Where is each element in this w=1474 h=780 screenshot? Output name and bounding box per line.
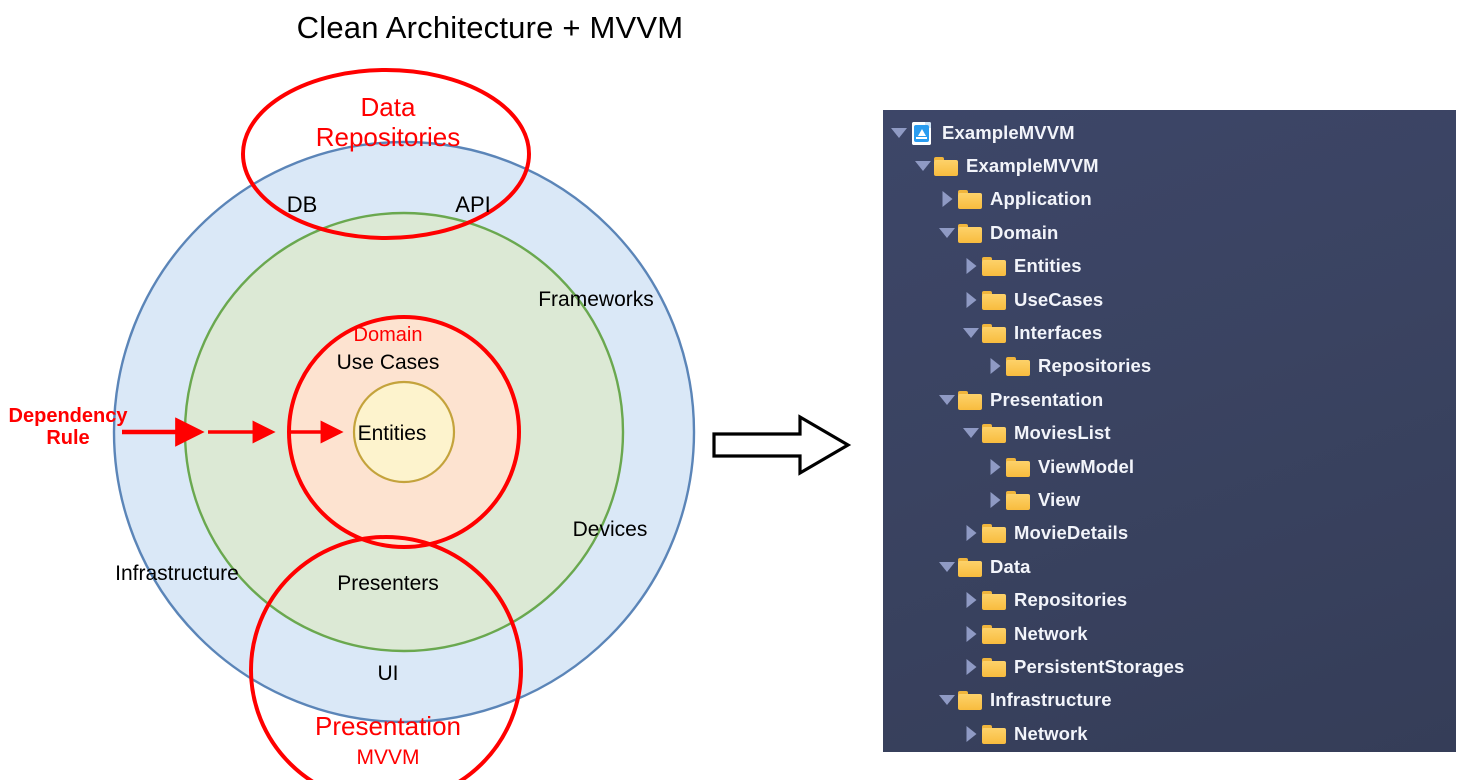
presentation-label-line1: Presentation (315, 711, 461, 741)
chevron-down-icon[interactable] (913, 156, 933, 176)
domain-label: Domain (354, 324, 423, 346)
chevron-right-icon[interactable] (961, 290, 981, 310)
tree-row-label: MovieDetails (1014, 522, 1128, 544)
chevron-down-icon[interactable] (889, 123, 909, 143)
folder-icon (981, 589, 1007, 611)
tree-row[interactable]: Repositories (883, 350, 1456, 383)
chevron-right-icon[interactable] (961, 523, 981, 543)
tree-row[interactable]: Interfaces (883, 316, 1456, 349)
tree-row-label: ExampleMVVM (966, 155, 1099, 177)
tree-row-label: Entities (1014, 255, 1082, 277)
frameworks-label: Frameworks (538, 288, 654, 311)
tree-row[interactable]: Presentation (883, 383, 1456, 416)
tree-row[interactable]: ExampleMVVM (883, 116, 1456, 149)
tree-row[interactable]: Data (883, 550, 1456, 583)
tree-row-label: Repositories (1038, 355, 1151, 377)
entities-label: Entities (358, 422, 427, 445)
chevron-right-icon[interactable] (985, 490, 1005, 510)
use-cases-label: Use Cases (337, 351, 440, 374)
folder-icon (981, 623, 1007, 645)
folder-icon (957, 222, 983, 244)
chevron-down-icon[interactable] (937, 390, 957, 410)
folder-icon (981, 656, 1007, 678)
tree-row-label: Network (1014, 623, 1088, 645)
api-label: API (455, 192, 490, 217)
xcode-file-navigator[interactable]: ExampleMVVMExampleMVVMApplicationDomainE… (883, 110, 1456, 752)
folder-icon (981, 322, 1007, 344)
tree-row-label: MoviesList (1014, 422, 1111, 444)
ui-label: UI (378, 662, 399, 685)
data-repositories-label-line1: Data (361, 92, 416, 122)
tree-row[interactable]: Domain (883, 216, 1456, 249)
tree-row-label: UseCases (1014, 289, 1103, 311)
folder-icon (933, 155, 959, 177)
folder-icon (981, 255, 1007, 277)
chevron-right-icon[interactable] (961, 657, 981, 677)
chevron-down-icon[interactable] (961, 423, 981, 443)
tree-row[interactable]: ExampleMVVM (883, 149, 1456, 182)
folder-icon (981, 723, 1007, 745)
folder-icon (957, 556, 983, 578)
folder-icon (1005, 355, 1031, 377)
chevron-right-icon[interactable] (961, 256, 981, 276)
tree-row[interactable]: MovieDetails (883, 517, 1456, 550)
tree-row[interactable]: Entities (883, 250, 1456, 283)
chevron-down-icon[interactable] (937, 557, 957, 577)
right-block-arrow (712, 414, 852, 476)
folder-icon (981, 289, 1007, 311)
tree-row[interactable]: View (883, 483, 1456, 516)
chevron-right-icon[interactable] (961, 590, 981, 610)
tree-row-label: ExampleMVVM (942, 122, 1075, 144)
chevron-down-icon[interactable] (961, 323, 981, 343)
tree-row[interactable]: PersistentStorages (883, 650, 1456, 683)
chevron-right-icon[interactable] (961, 724, 981, 744)
tree-row-label: Network (1014, 723, 1088, 745)
tree-row-label: Presentation (990, 389, 1103, 411)
tree-row[interactable]: UseCases (883, 283, 1456, 316)
tree-row[interactable]: Infrastructure (883, 684, 1456, 717)
tree-row-label: PersistentStorages (1014, 656, 1184, 678)
folder-icon (981, 522, 1007, 544)
tree-row-label: View (1038, 489, 1080, 511)
folder-icon (957, 188, 983, 210)
presenters-label: Presenters (337, 572, 439, 595)
chevron-down-icon[interactable] (937, 223, 957, 243)
tree-row[interactable]: Repositories (883, 583, 1456, 616)
folder-icon (957, 689, 983, 711)
chevron-right-icon[interactable] (985, 356, 1005, 376)
chevron-right-icon[interactable] (937, 189, 957, 209)
tree-row-label: Infrastructure (990, 689, 1112, 711)
devices-label: Devices (573, 518, 648, 541)
xcode-project-icon (909, 122, 935, 144)
project-file-tree: ExampleMVVMExampleMVVMApplicationDomainE… (883, 116, 1456, 750)
tree-row[interactable]: MoviesList (883, 417, 1456, 450)
tree-row-label: Data (990, 556, 1031, 578)
tree-row[interactable]: Network (883, 617, 1456, 650)
tree-row-label: Domain (990, 222, 1058, 244)
folder-icon (1005, 489, 1031, 511)
tree-row-label: ViewModel (1038, 456, 1134, 478)
chevron-right-icon[interactable] (985, 457, 1005, 477)
presentation-label-line2: MVVM (357, 746, 420, 769)
folder-icon (981, 422, 1007, 444)
folder-icon (1005, 456, 1031, 478)
tree-row-label: Interfaces (1014, 322, 1102, 344)
infrastructure-label: Infrastructure (115, 562, 239, 585)
folder-icon (957, 389, 983, 411)
chevron-down-icon[interactable] (937, 690, 957, 710)
page-title: Clean Architecture + MVVM (0, 10, 980, 46)
data-repositories-label-line2: Repositories (316, 122, 461, 152)
chevron-right-icon[interactable] (961, 624, 981, 644)
db-label: DB (287, 192, 318, 217)
dependency-rule-label-line1: Dependency (9, 405, 129, 427)
dependency-rule-label-line2: Rule (46, 427, 89, 449)
tree-row[interactable]: ViewModel (883, 450, 1456, 483)
tree-row[interactable]: Network (883, 717, 1456, 750)
tree-row-label: Repositories (1014, 589, 1127, 611)
tree-row-label: Application (990, 188, 1092, 210)
tree-row[interactable]: Application (883, 183, 1456, 216)
